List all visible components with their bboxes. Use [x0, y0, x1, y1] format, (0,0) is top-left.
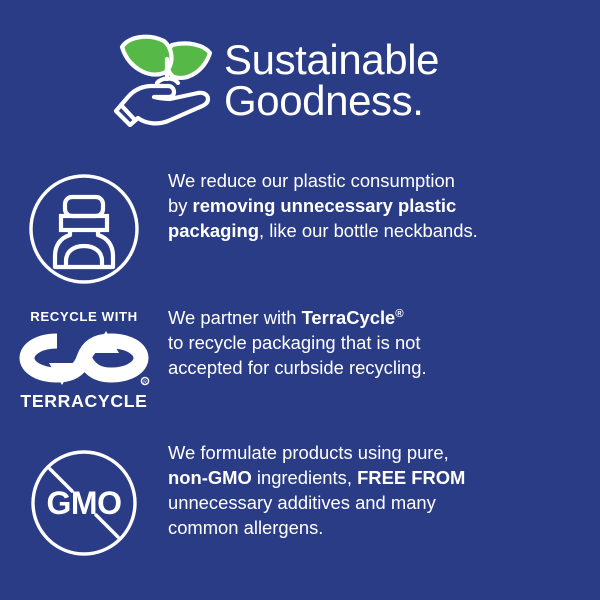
page-title: Sustainable Goodness. — [224, 37, 439, 121]
feature-line: non-GMO ingredients, FREE FROM — [168, 465, 586, 490]
hand-holding-plant-icon — [112, 31, 216, 127]
feature-line: to recycle packaging that is not — [168, 330, 586, 355]
feature-line: unnecessary additives and many — [168, 490, 586, 515]
feature-text-terracycle: We partner with TerraCycle®to recycle pa… — [168, 305, 600, 380]
feature-icon-cell — [0, 168, 168, 286]
feature-row-non-gmo: GMO We formulate products using pure,non… — [0, 440, 600, 562]
feature-line: packaging, like our bottle neckbands. — [168, 218, 586, 243]
terracycle-logo-bottom-text: TERRACYCLE — [20, 391, 147, 412]
feature-text-non-gmo: We formulate products using pure,non-GMO… — [168, 440, 600, 540]
header-banner: Sustainable Goodness. — [0, 24, 600, 134]
terracycle-logo-icon: RECYCLE WITH R TERRACYCLE — [16, 309, 152, 412]
feature-icon-cell: RECYCLE WITH R TERRACYCLE — [0, 305, 168, 412]
feature-icon-cell: GMO — [0, 440, 168, 562]
feature-text-plastic-reduction: We reduce our plastic consumptionby remo… — [168, 168, 600, 243]
page-title-line-2: Goodness. — [224, 77, 424, 124]
feature-line: We partner with TerraCycle® — [168, 305, 586, 330]
bottle-neckband-icon — [27, 172, 141, 286]
terracycle-logo-top-text: RECYCLE WITH — [30, 309, 138, 324]
feature-line: by removing unnecessary plastic — [168, 193, 586, 218]
feature-line: We reduce our plastic consumption — [168, 168, 586, 193]
page-title-line-1: Sustainable — [224, 36, 439, 83]
infinity-recycle-arrows-icon: R — [17, 327, 151, 389]
svg-text:R: R — [143, 379, 147, 385]
feature-line: common allergens. — [168, 515, 586, 540]
feature-line: We formulate products using pure, — [168, 440, 586, 465]
no-gmo-icon: GMO — [25, 444, 143, 562]
feature-row-terracycle: RECYCLE WITH R TERRACYCLE We partner wit… — [0, 305, 600, 412]
feature-line: accepted for curbside recycling. — [168, 355, 586, 380]
feature-row-plastic-reduction: We reduce our plastic consumptionby remo… — [0, 168, 600, 286]
no-gmo-icon-label: GMO — [47, 485, 122, 521]
